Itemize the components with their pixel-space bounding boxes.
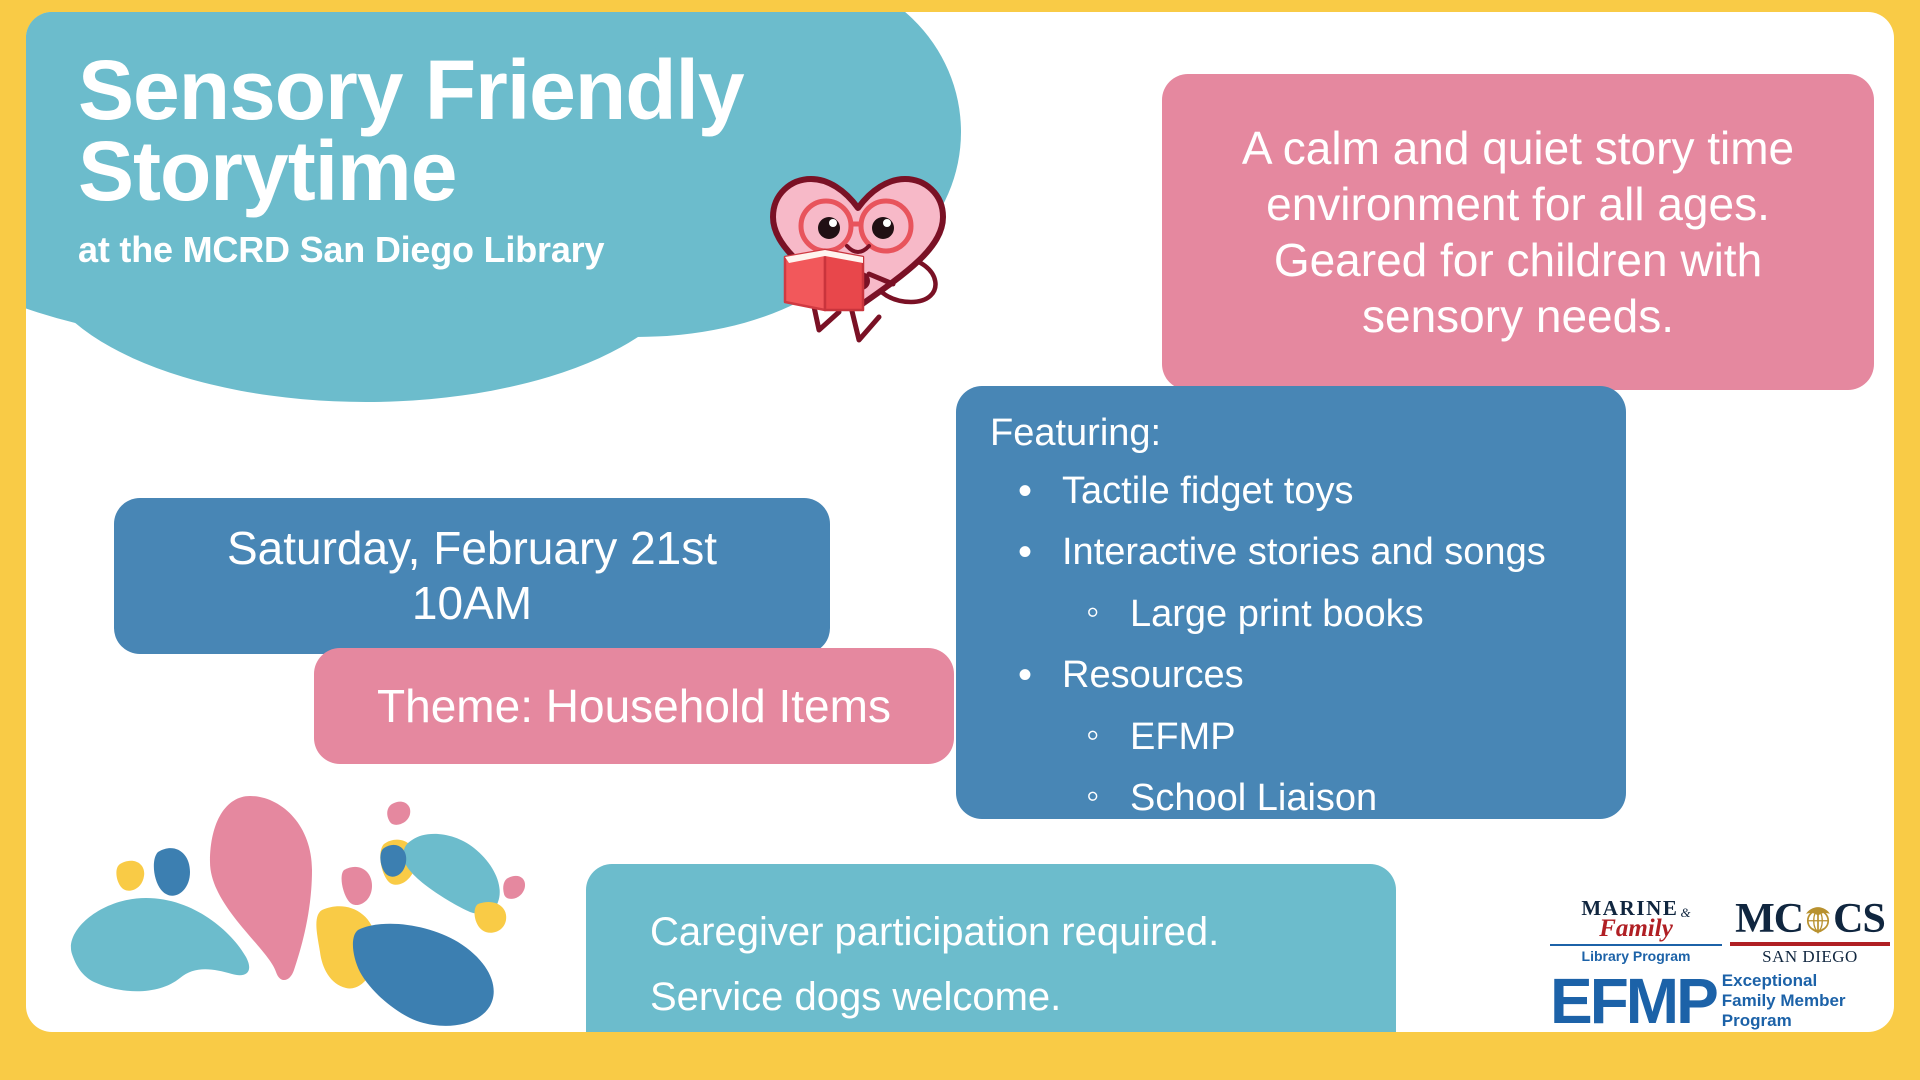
efmp-expansion: Exceptional Family Member Program xyxy=(1722,971,1846,1031)
list-item: Interactive stories and songs xyxy=(990,528,1596,577)
mccs-right-letters: CS xyxy=(1833,898,1885,940)
logo-row-top: MARINE & Family Library Program MC xyxy=(1550,898,1894,967)
yellow-border-frame: Sensory Friendly Storytime at the MCRD S… xyxy=(0,0,1920,1080)
family-word: Family xyxy=(1599,916,1673,941)
efmp-line1: Exceptional xyxy=(1722,971,1817,990)
featuring-title: Featuring: xyxy=(990,412,1596,455)
featuring-card: Featuring: Tactile fidget toys Interacti… xyxy=(956,386,1626,819)
mccs-san-diego-logo: MC CS SAN DIEGO xyxy=(1730,898,1890,967)
event-theme: Theme: Household Items xyxy=(377,679,891,733)
efmp-line3: Program xyxy=(1722,1011,1792,1030)
info-line-caregiver: Caregiver participation required. xyxy=(650,900,1396,965)
description-card: A calm and quiet story time environment … xyxy=(1162,74,1874,390)
list-item: Resources xyxy=(990,651,1596,700)
divider xyxy=(1730,942,1890,946)
event-time: 10AM xyxy=(412,576,532,631)
mccs-wordmark: MC CS xyxy=(1730,898,1890,940)
info-line-questions: Questions? Call 619-524-1849 xyxy=(650,1030,1396,1032)
info-card: Caregiver participation required. Servic… xyxy=(586,864,1396,1032)
page-title-line1: Sensory Friendly xyxy=(78,50,1038,131)
featuring-list: Tactile fidget toys Interactive stories … xyxy=(990,467,1596,823)
description-text: A calm and quiet story time environment … xyxy=(1192,120,1844,344)
marine-and-family-logo: MARINE & Family Library Program xyxy=(1550,898,1722,964)
logo-block: MARINE & Family Library Program MC xyxy=(1550,898,1894,1032)
event-date-card: Saturday, February 21st 10AM xyxy=(114,498,830,654)
library-program-label: Library Program xyxy=(1550,948,1722,964)
efmp-logo: EFMP Exceptional Family Member Program xyxy=(1550,971,1894,1031)
list-item: Large print books xyxy=(990,590,1596,639)
ampersand-glyph: & xyxy=(1680,906,1690,919)
heart-reading-book-icon xyxy=(751,162,966,357)
eagle-globe-anchor-icon xyxy=(1801,902,1835,936)
marine-family-wordmark: MARINE & Family xyxy=(1550,898,1722,941)
list-item: School Liaison xyxy=(990,774,1596,823)
event-theme-card: Theme: Household Items xyxy=(314,648,954,764)
flyer-canvas: Sensory Friendly Storytime at the MCRD S… xyxy=(26,12,1894,1032)
event-date: Saturday, February 21st xyxy=(227,521,717,576)
divider xyxy=(1550,944,1722,946)
mccs-location-label: SAN DIEGO xyxy=(1730,947,1890,967)
efmp-line2: Family Member xyxy=(1722,991,1846,1010)
mccs-left-letters: MC xyxy=(1735,898,1803,940)
paint-splash-decoration xyxy=(54,782,554,1032)
efmp-acronym: EFMP xyxy=(1550,974,1716,1028)
info-line-service-dogs: Service dogs welcome. xyxy=(650,965,1396,1030)
list-item: Tactile fidget toys xyxy=(990,467,1596,516)
list-item: EFMP xyxy=(990,713,1596,762)
